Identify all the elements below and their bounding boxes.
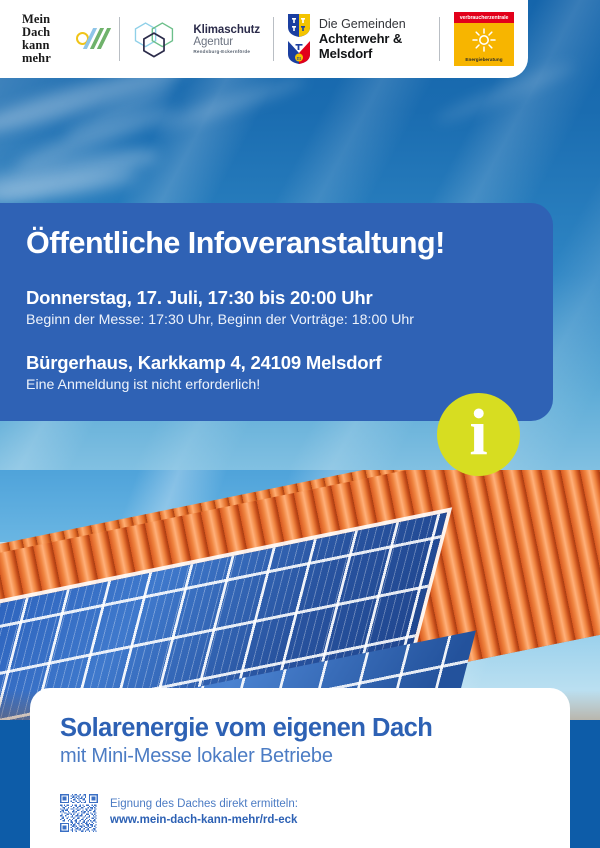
logo-mein-dach-kann-mehr[interactable]: Mein Dach kann mehr xyxy=(0,0,119,78)
logo-verbraucherzentrale[interactable]: verbraucherzentrale Energieberatung xyxy=(440,0,528,78)
verbraucherzentrale-label: verbraucherzentrale xyxy=(454,12,514,23)
mein-dach-line2: kann mehr xyxy=(22,39,70,65)
coat-of-arms-icon: m xyxy=(287,13,311,65)
logo-klimaschutz-agentur[interactable]: Klimaschutz Agentur Rendsburg-Eckernförd… xyxy=(119,0,273,78)
slash-mark-icon xyxy=(76,28,103,50)
event-venue: Bürgerhaus, Karkkamp 4, 24109 Melsdorf xyxy=(26,352,527,374)
event-date-note: Beginn der Messe: 17:30 Uhr, Beginn der … xyxy=(26,312,527,328)
bottom-info-card: Solarenergie vom eigenen Dach mit Mini-M… xyxy=(30,688,570,848)
mein-dach-line1: Mein Dach xyxy=(22,13,70,39)
energieberatung-label: Energieberatung xyxy=(465,57,502,66)
page-title: Öffentliche Infoveranstaltung! xyxy=(26,227,527,260)
qr-caption: Eignung des Daches direkt ermitteln: xyxy=(110,797,298,813)
sun-icon xyxy=(469,23,499,57)
card-headline: Solarenergie vom eigenen Dach xyxy=(60,714,540,743)
hexagon-icon xyxy=(132,18,186,60)
info-icon: i xyxy=(437,393,520,476)
card-subheadline: mit Mini-Messe lokaler Betriebe xyxy=(60,745,540,768)
svg-text:m: m xyxy=(297,56,302,62)
event-info-box: Öffentliche Infoveranstaltung! Donnersta… xyxy=(0,203,553,421)
logo-die-gemeinden[interactable]: m Die Gemeinden Achterwehr & Melsdorf xyxy=(274,0,439,78)
event-date: Donnerstag, 17. Juli, 17:30 bis 20:00 Uh… xyxy=(26,287,527,309)
logo-header-bar: Mein Dach kann mehr Klimaschutz Agentur … xyxy=(0,0,528,78)
poster-root: Mein Dach kann mehr Klimaschutz Agentur … xyxy=(0,0,600,848)
qr-row: Eignung des Daches direkt ermitteln: www… xyxy=(60,794,540,832)
event-venue-note: Eine Anmeldung ist nicht erforderlich! xyxy=(26,377,527,393)
gemeinden-line2: Achterwehr & Melsdorf xyxy=(319,31,426,61)
klimaschutz-line1: Klimaschutz xyxy=(193,24,260,36)
info-icon-glyph: i xyxy=(469,400,487,466)
qr-code[interactable] xyxy=(60,794,98,832)
gemeinden-line1: Die Gemeinden xyxy=(319,17,426,32)
klimaschutz-line2: Agentur xyxy=(193,36,260,48)
qr-url[interactable]: www.mein-dach-kann-mehr/rd-eck xyxy=(110,813,298,829)
solar-roof-photo xyxy=(0,470,600,720)
klimaschutz-region: Rendsburg-Eckernförde xyxy=(193,50,260,55)
